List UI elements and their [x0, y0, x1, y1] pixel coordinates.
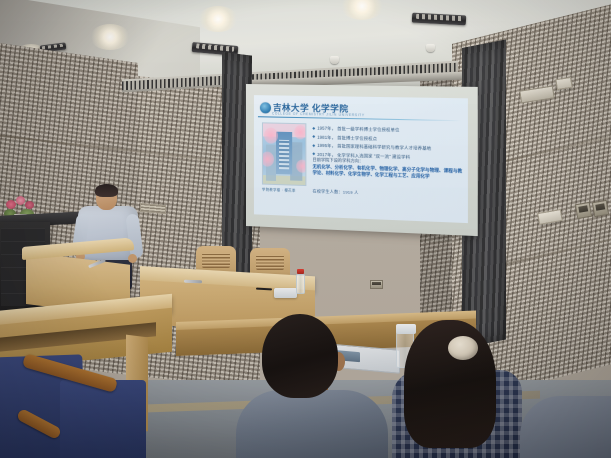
presentation-slide: 吉林大学 化学学院 COLLEGE OF CHEMISTRY JILIN UNI… — [254, 95, 468, 223]
tissue-pack[interactable] — [274, 288, 297, 298]
presenter-hand-right — [128, 254, 137, 263]
blossom-icon — [294, 125, 306, 139]
sprinkler-head-icon — [330, 56, 339, 64]
downlight-icon — [198, 6, 238, 32]
blossom-icon — [262, 151, 274, 166]
wall-outlet-panel[interactable] — [592, 200, 609, 217]
audience-member-far-right — [520, 396, 611, 458]
bottle-cap-icon — [297, 269, 304, 274]
bullet-marker-icon — [312, 127, 315, 130]
bullet-marker-icon — [312, 144, 315, 147]
slide-disciplines: 无机化学、分析化学、有机化学、物理化学、高分子化学与物理、课程与教学论、材料化学… — [313, 164, 463, 181]
slide-bullet: 1981年， 首批博士学位授权点 — [313, 134, 463, 143]
auditorium-seat[interactable] — [60, 380, 146, 458]
slide-footer: 在校学生人数：1919 人 — [313, 188, 359, 196]
audience-member-front-left — [236, 390, 388, 458]
water-bottle[interactable] — [296, 274, 305, 294]
wall-outlet-panel[interactable] — [575, 202, 592, 219]
lecture-hall-photo: 吉林大学 化学学院 COLLEGE OF CHEMISTRY JILIN UNI… — [0, 0, 611, 458]
flower-icon — [6, 200, 16, 209]
downlight-icon — [90, 24, 130, 50]
audience-hair — [404, 320, 496, 448]
table-microphone — [184, 280, 202, 284]
flower-icon — [25, 201, 34, 209]
bullet-marker-icon — [312, 135, 315, 138]
slide-bullet: 1957年， 首批一级学科博士学位授权单位 — [313, 125, 463, 134]
university-crest-icon — [260, 102, 271, 113]
campus-photo — [262, 122, 306, 186]
campus-photo-caption: 学院教学楼 · 樱花季 — [262, 187, 308, 194]
sprinkler-head-icon — [426, 44, 435, 52]
projection-screen: 吉林大学 化学学院 COLLEGE OF CHEMISTRY JILIN UNI… — [246, 84, 478, 236]
wall-outlet-panel[interactable] — [370, 280, 383, 289]
hair-scrunchie — [448, 336, 478, 360]
flower-icon — [16, 196, 25, 205]
audience-head — [262, 314, 338, 398]
slide-bullet: 1995年， 首批国家理科基础科学研究与教学人才培养基地 — [313, 143, 463, 152]
campus-building — [276, 132, 291, 175]
bullet-marker-icon — [312, 153, 315, 156]
blossom-icon — [296, 159, 306, 173]
presenter-hair — [95, 184, 118, 197]
blossom-icon — [264, 127, 278, 143]
